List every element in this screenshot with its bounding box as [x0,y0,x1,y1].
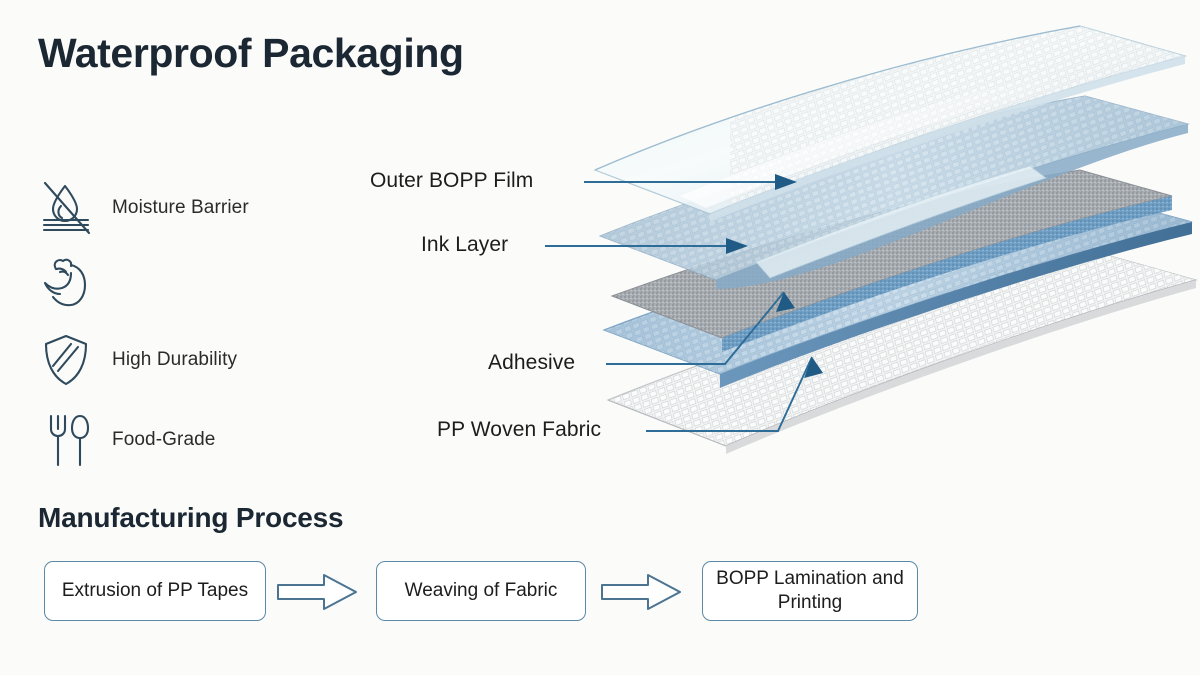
shield-icon [38,331,94,389]
feature-label: Food-Grade [112,429,215,451]
process-step-2[interactable]: Weaving of Fabric [376,561,586,621]
feature-item-moisture-barrier: Moisture Barrier [38,172,249,244]
process-step-1[interactable]: Extrusion of PP Tapes [44,561,266,621]
process-step-3[interactable]: BOPP Lamination and Printing [702,561,918,621]
process-arrow-1 [276,569,360,615]
feature-label: High Durability [112,349,237,371]
water-drop-no-penetration-icon [38,179,94,237]
page-title: Waterproof Packaging [38,30,464,77]
exploded-layer-illustration [560,0,1200,480]
flexed-bicep-icon [38,253,94,311]
fork-spoon-icon [38,411,94,469]
callout-label-ink-layer: Ink Layer [421,233,508,257]
callout-label-pp-woven-fabric: PP Woven Fabric [437,418,601,442]
feature-item-strength [38,246,112,318]
section-title: Manufacturing Process [38,502,343,534]
infographic-canvas: Waterproof Packaging [0,0,1200,675]
callout-label-outer-bopp-film: Outer BOPP Film [370,169,533,193]
feature-item-food-grade: Food-Grade [38,404,215,476]
feature-item-high-durability: High Durability [38,324,237,396]
callout-label-adhesive: Adhesive [488,351,575,375]
feature-label: Moisture Barrier [112,197,249,219]
process-arrow-2 [600,569,684,615]
manufacturing-process-flow: Extrusion of PP Tapes Weaving of Fabric … [0,556,1200,636]
